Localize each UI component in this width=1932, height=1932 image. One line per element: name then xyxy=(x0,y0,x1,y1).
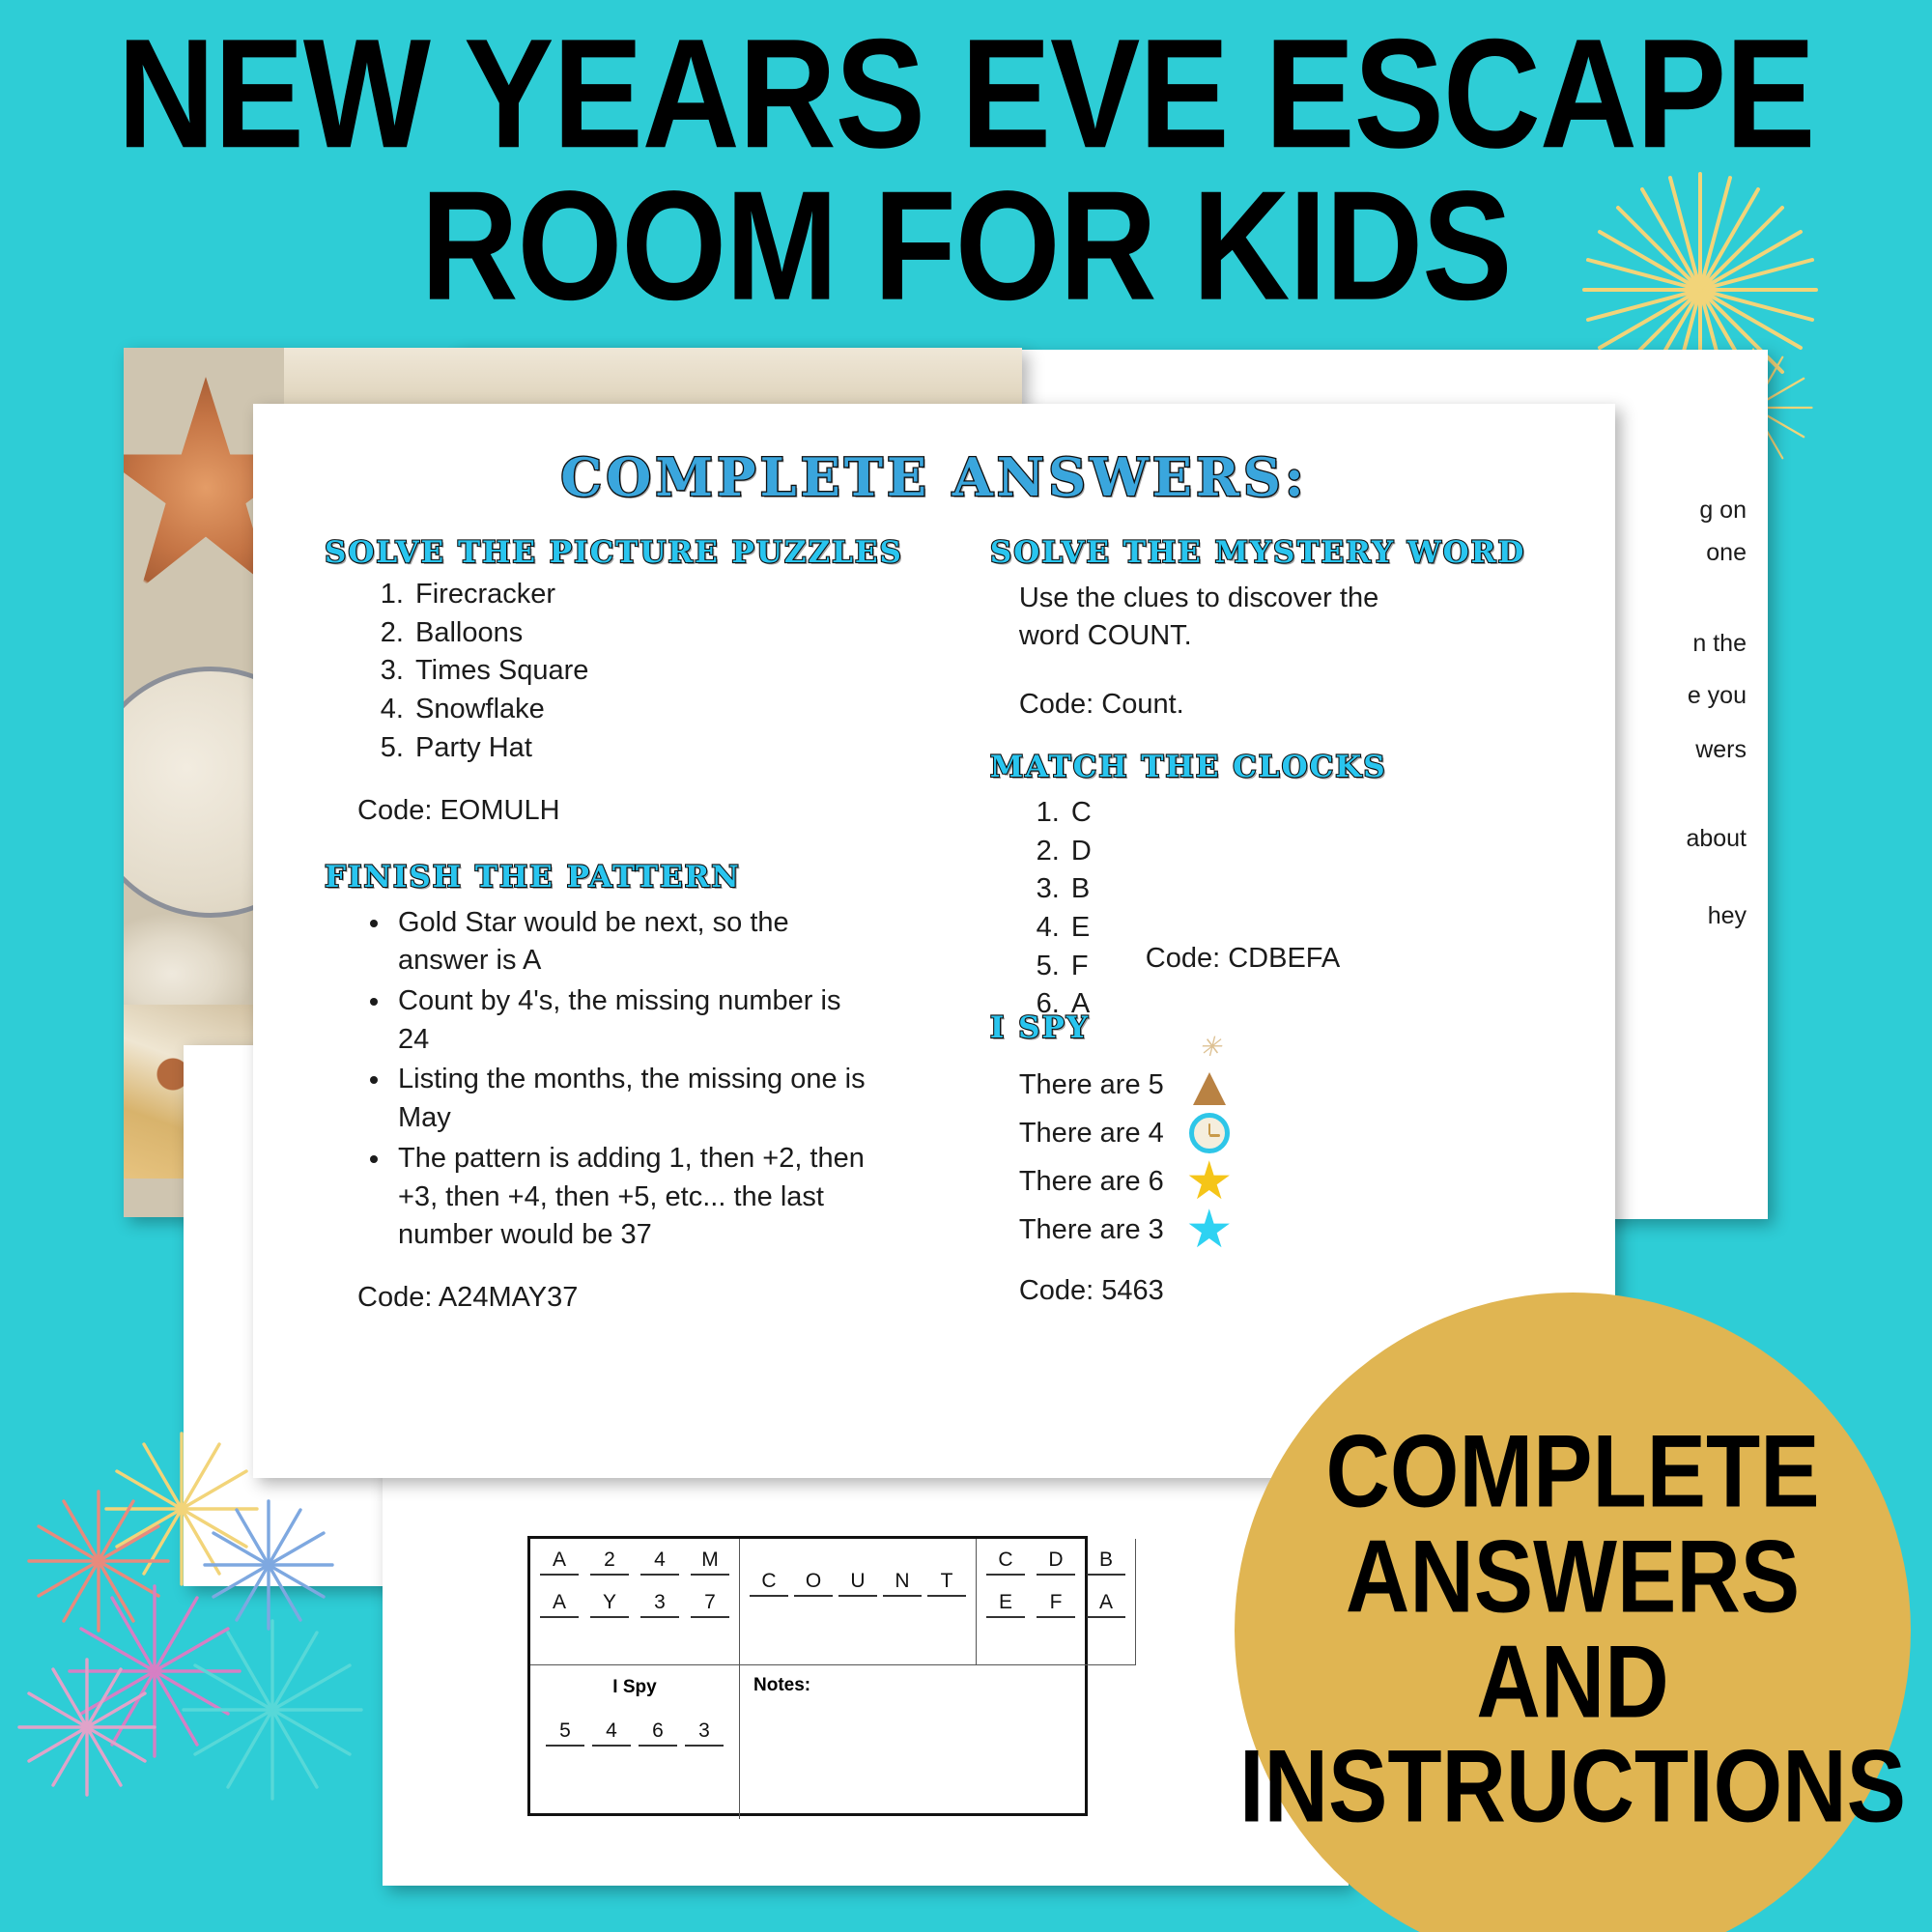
blank: D xyxy=(1037,1548,1075,1576)
list-item: Gold Star would be next, so the answer i… xyxy=(392,904,875,980)
section-heading-i-spy: I SPY xyxy=(990,1010,1571,1045)
headline-line-1: NEW YEARS EVE ESCAPE xyxy=(118,7,1815,180)
i-spy-count: There are 4 xyxy=(1019,1118,1164,1150)
right-column: SOLVE THE MYSTERY WORD Use the clues to … xyxy=(953,535,1571,1314)
i-spy-count: There are 5 xyxy=(1019,1069,1164,1101)
list-item: Listing the months, the missing one is M… xyxy=(392,1061,875,1137)
blank: 5 xyxy=(546,1719,584,1747)
blank: 3 xyxy=(640,1591,679,1618)
match-clocks-block: C D B E F A Code: CDBEFA xyxy=(963,790,1571,1024)
list-item: The pattern is adding 1, then +2, then +… xyxy=(392,1140,875,1255)
blank: C xyxy=(986,1548,1025,1576)
code-finish-pattern: Code: A24MAY37 xyxy=(357,1282,915,1314)
blank: 6 xyxy=(639,1719,677,1747)
list-item: Count by 4's, the missing number is 24 xyxy=(392,982,875,1059)
blank: A xyxy=(1087,1591,1125,1618)
worksheet-cell-clocks: C D B E F A xyxy=(977,1539,1136,1664)
list-item: Firecracker xyxy=(412,576,915,614)
back-fragment: about xyxy=(1686,825,1747,853)
i-spy-count: There are 3 xyxy=(1019,1214,1164,1246)
notes-label: Notes: xyxy=(753,1675,810,1695)
i-spy-label: I Spy xyxy=(530,1677,739,1698)
blank: Y xyxy=(590,1591,629,1618)
badge-line-2: ANSWERS AND xyxy=(1239,1525,1906,1736)
blank: 7 xyxy=(691,1591,729,1618)
clock-icon xyxy=(1187,1111,1232,1155)
i-spy-count: There are 6 xyxy=(1019,1166,1164,1198)
blank: F xyxy=(1037,1591,1075,1618)
match-clocks-answers: C D B E F A xyxy=(1067,794,1092,1024)
headline-line-2: ROOM FOR KIDS xyxy=(0,170,1932,323)
section-heading-match-clocks: MATCH THE CLOCKS xyxy=(990,750,1571,784)
blank: U xyxy=(838,1570,877,1597)
section-heading-mystery-word: SOLVE THE MYSTERY WORD xyxy=(990,535,1571,570)
page-headline: NEW YEARS EVE ESCAPE ROOM FOR KIDS xyxy=(0,17,1932,323)
blank: 2 xyxy=(590,1548,629,1576)
page-title: COMPLETE ANSWERS: xyxy=(298,446,1571,508)
paper-texture-band xyxy=(284,348,1022,406)
worksheet-cell-i-spy: I Spy 5 4 6 3 xyxy=(530,1664,740,1819)
badge-text: COMPLETE ANSWERS AND INSTRUCTIONS xyxy=(1214,1420,1931,1840)
gold-star-icon xyxy=(1187,1159,1232,1204)
list-item: F xyxy=(1067,948,1092,986)
worksheet-cell-pattern: A 2 4 M A Y 3 7 xyxy=(530,1539,740,1664)
blank: O xyxy=(794,1570,833,1597)
blank: A xyxy=(540,1591,579,1618)
party-hat-icon xyxy=(1187,1063,1232,1107)
blank: 4 xyxy=(640,1548,679,1576)
blank: A xyxy=(540,1548,579,1576)
list-item: Snowflake xyxy=(412,691,915,729)
complete-answers-badge: COMPLETE ANSWERS AND INSTRUCTIONS xyxy=(1235,1293,1911,1932)
list-item: C xyxy=(1067,794,1092,833)
code-picture-puzzles: Code: EOMULH xyxy=(357,795,915,827)
cyan-star-icon xyxy=(1187,1207,1232,1252)
list-item: Times Square xyxy=(412,652,915,691)
blank: C xyxy=(750,1570,788,1597)
back-fragment: hey xyxy=(1708,902,1747,930)
back-fragment: g on xyxy=(1699,497,1747,525)
blank: T xyxy=(927,1570,966,1597)
list-item: E xyxy=(1067,909,1092,948)
back-fragment: e you xyxy=(1688,682,1747,710)
i-spy-row: There are 5 xyxy=(1019,1061,1571,1109)
list-item: Party Hat xyxy=(412,729,915,768)
worksheet-cell-mystery-word: C O U N T xyxy=(740,1539,977,1664)
blank: M xyxy=(691,1548,729,1576)
left-column: SOLVE THE PICTURE PUZZLES Firecracker Ba… xyxy=(298,535,915,1314)
back-fragment: n the xyxy=(1692,630,1747,658)
answers-page: COMPLETE ANSWERS: SOLVE THE PICTURE PUZZ… xyxy=(253,404,1615,1478)
blank: B xyxy=(1087,1548,1125,1576)
list-item: D xyxy=(1067,833,1092,871)
finish-pattern-answers: Gold Star would be next, so the answer i… xyxy=(392,904,875,1255)
blank: E xyxy=(986,1591,1025,1618)
blank: 3 xyxy=(685,1719,724,1747)
picture-puzzle-answers: Firecracker Balloons Times Square Snowfl… xyxy=(412,576,915,768)
back-fragment: wers xyxy=(1695,736,1747,764)
badge-line-1: COMPLETE xyxy=(1239,1420,1906,1525)
section-heading-finish-pattern: FINISH THE PATTERN xyxy=(325,860,915,895)
answers-columns: SOLVE THE PICTURE PUZZLES Firecracker Ba… xyxy=(298,535,1571,1314)
mystery-word-body: Use the clues to discover the word COUNT… xyxy=(1019,580,1435,656)
list-item: B xyxy=(1067,870,1092,909)
i-spy-row: There are 6 xyxy=(1019,1157,1571,1206)
section-heading-picture-puzzles: SOLVE THE PICTURE PUZZLES xyxy=(325,535,915,570)
answer-worksheet-table: A 2 4 M A Y 3 7 C O U N T C D B E F A xyxy=(527,1536,1088,1816)
i-spy-answers: There are 5 There are 4 There are 6 Ther… xyxy=(1019,1061,1571,1254)
back-fragment: one xyxy=(1706,539,1747,567)
list-item: Balloons xyxy=(412,614,915,653)
blank: N xyxy=(883,1570,922,1597)
worksheet-cell-notes: Notes: xyxy=(740,1664,1136,1819)
code-mystery-word: Code: Count. xyxy=(1019,689,1571,721)
code-match-clocks: Code: CDBEFA xyxy=(1146,943,1340,975)
i-spy-row: There are 4 xyxy=(1019,1109,1571,1157)
i-spy-row: There are 3 xyxy=(1019,1206,1571,1254)
badge-line-3: INSTRUCTIONS xyxy=(1239,1736,1906,1841)
blank: 4 xyxy=(592,1719,631,1747)
